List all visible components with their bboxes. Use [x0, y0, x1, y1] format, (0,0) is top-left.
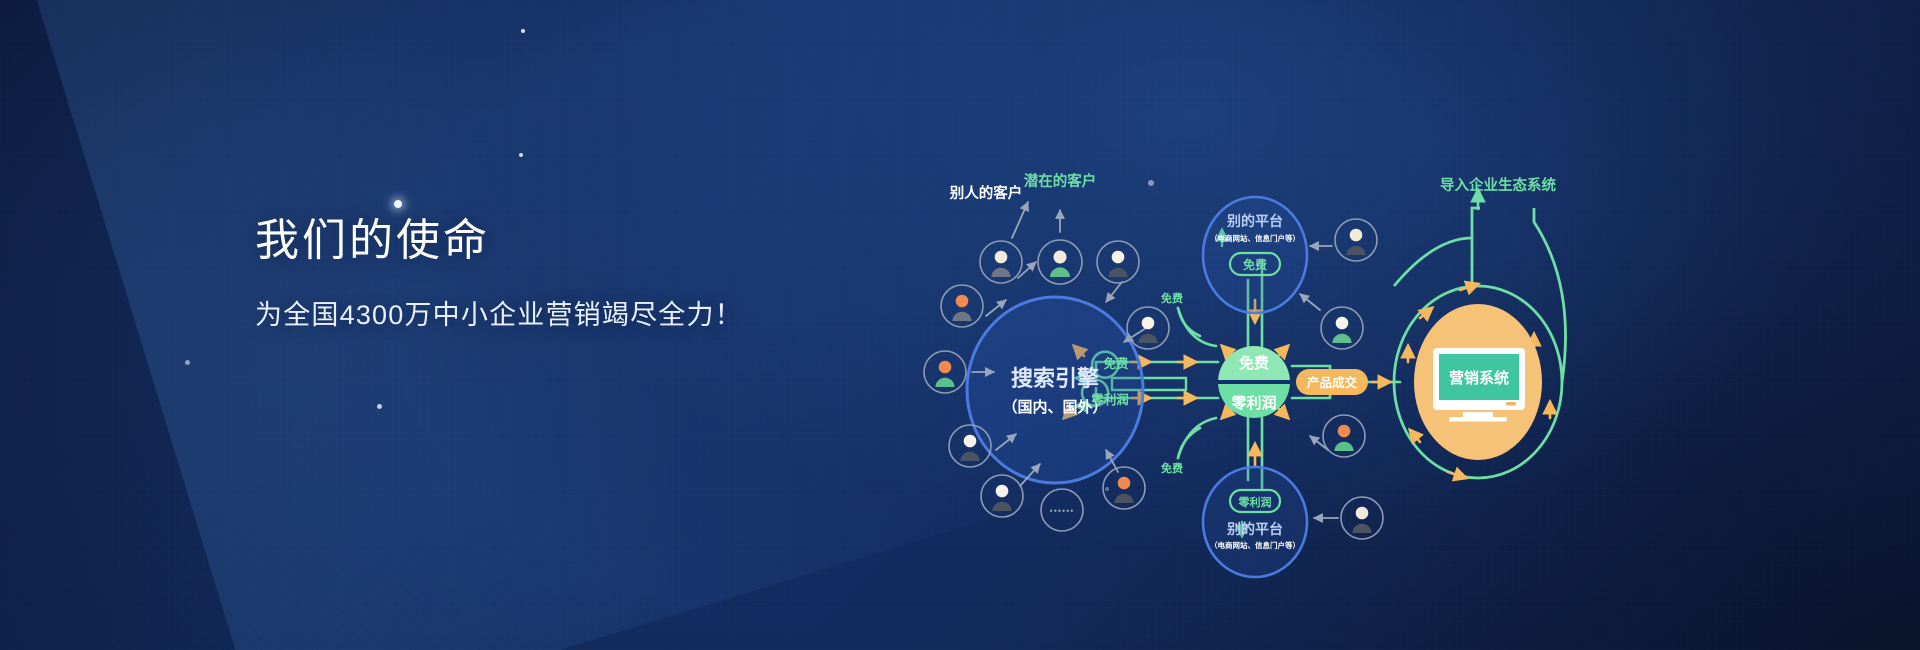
flow-label-free-branch-bottom: 免费: [1161, 461, 1183, 475]
avatar: [980, 241, 1022, 283]
platform-bottom-node: 零利润 别的平台 （电商网站、信息门户等）: [1203, 467, 1307, 577]
avatar: [1038, 240, 1082, 284]
platform-bottom-subtitle: （电商网站、信息门户等）: [1210, 540, 1300, 550]
marketing-system-node: 营销系统: [1414, 304, 1542, 460]
label-import-ecosystem: 导入企业生态系统: [1440, 176, 1556, 194]
platform-top-node: 别的平台 （电商网站、信息门户等） 免费: [1203, 197, 1307, 313]
deal-pill-label: 产品成交: [1307, 375, 1358, 390]
avatar: [1321, 307, 1363, 349]
deal-pill: 产品成交: [1296, 369, 1368, 395]
avatar: [1323, 415, 1365, 457]
hero-copy: 我们的使命 为全国4300万中小企业营销竭尽全力！: [255, 215, 743, 333]
platform-bottom-title: 别的平台: [1226, 521, 1283, 537]
hub-bottom-label: 零利润: [1230, 394, 1276, 412]
avatar: [924, 351, 966, 393]
hub-node: 免费 零利润: [1218, 346, 1290, 418]
avatar: [981, 475, 1023, 517]
ellipsis-label: ••••••: [1050, 506, 1075, 516]
avatar: [1097, 241, 1139, 283]
avatar: [1103, 467, 1145, 509]
hub-top-label: 免费: [1239, 354, 1269, 372]
flow-label-free-branch-top: 免费: [1161, 291, 1183, 305]
marketing-ecosystem-diagram: 搜索引擎 （国内、国外） 免费 零利润 别的平台 （电商网站、信息门户等） 免费: [900, 150, 1580, 510]
avatar: [1335, 219, 1377, 261]
label-others-customers: 别人的客户: [949, 184, 1023, 202]
platform-bottom-badge: 零利润: [1238, 495, 1272, 509]
page-subtitle: 为全国4300万中小企业营销竭尽全力！: [255, 298, 743, 333]
avatar: [1127, 307, 1169, 349]
avatar: [941, 285, 983, 327]
flow-label-free-upper: 免费: [1103, 356, 1129, 371]
platform-top-title: 别的平台: [1226, 213, 1283, 229]
platform-top-badge: 免费: [1243, 257, 1267, 272]
platform-top-subtitle: （电商网站、信息门户等）: [1210, 233, 1300, 243]
page-title: 我们的使命: [255, 215, 743, 267]
marketing-system-label: 营销系统: [1449, 369, 1509, 387]
search-engine-title: 搜索引擎: [1011, 366, 1099, 391]
hero-banner: 我们的使命 为全国4300万中小企业营销竭尽全力！: [0, 0, 1920, 650]
label-potential-customers: 潜在的客户: [1024, 172, 1097, 190]
flow-label-zero-profit-lower: 零利润: [1090, 392, 1129, 407]
